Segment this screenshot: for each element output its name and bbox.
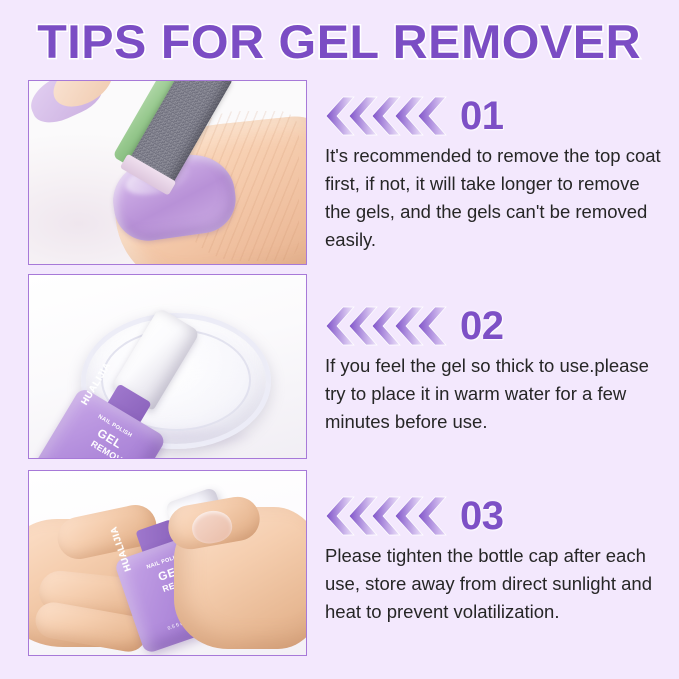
step-1-header: 01 [325, 92, 675, 140]
step-2-number: 02 [460, 306, 504, 346]
step-2: 02 If you feel the gel so thick to use.p… [325, 302, 675, 436]
step-3-text: Please tighten the bottle cap after each… [325, 542, 667, 626]
chevron-group-icon [325, 496, 440, 536]
step-1: 01 It's recommended to remove the top co… [325, 92, 675, 254]
photo-frame-step-3: HUALIJIA NAIL POLISH GEL REMOVER 0.5 fl … [28, 470, 307, 656]
step-2-text: If you feel the gel so thick to use.plea… [325, 352, 667, 436]
step-1-number: 01 [460, 96, 504, 136]
chevron-left-icon [417, 96, 447, 136]
photo-frame-step-2: HUALIJIA NAIL POLISH GEL REMOVER 0.5 fl … [28, 274, 307, 459]
step-3: 03 Please tighten the bottle cap after e… [325, 492, 675, 626]
step-2-header: 02 [325, 302, 675, 350]
photo-frame-step-1 [28, 80, 307, 265]
photo-bottle-in-bowl: HUALIJIA NAIL POLISH GEL REMOVER 0.5 fl … [29, 275, 306, 458]
chevron-group-icon [325, 96, 440, 136]
chevron-left-icon [417, 306, 447, 346]
photo-nail-buffing [29, 81, 306, 264]
photo-hands-capping-bottle: HUALIJIA NAIL POLISH GEL REMOVER 0.5 fl … [29, 471, 306, 655]
page-title: TIPS FOR GEL REMOVER [38, 18, 642, 65]
step-3-number: 03 [460, 496, 504, 536]
chevron-group-icon [325, 306, 440, 346]
step-3-header: 03 [325, 492, 675, 540]
step-1-text: It's recommended to remove the top coat … [325, 142, 667, 254]
page-header: TIPS FOR GEL REMOVER [0, 12, 679, 70]
chevron-left-icon [417, 496, 447, 536]
